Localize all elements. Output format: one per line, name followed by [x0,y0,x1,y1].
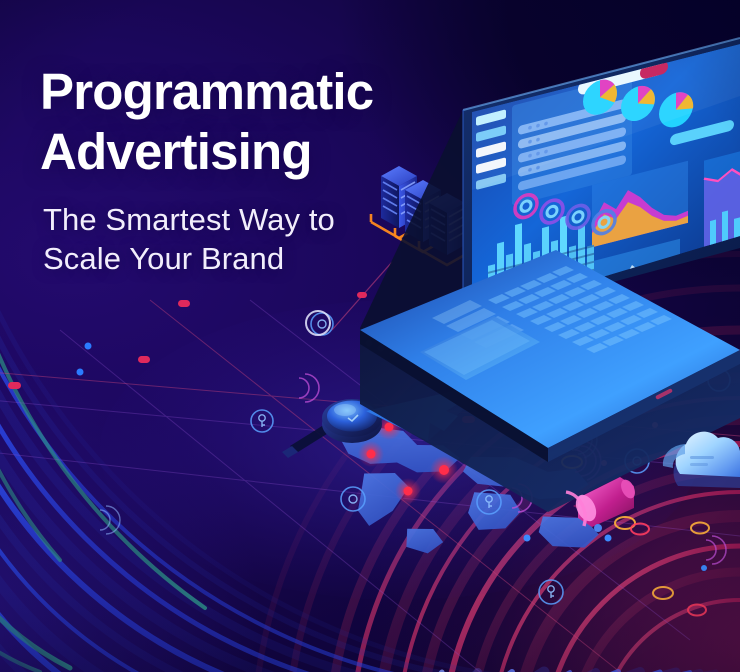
banner-canvas: Programmatic Advertising The Smartest Wa… [0,0,740,672]
headline-block: Programmatic Advertising The Smartest Wa… [40,62,460,278]
page-subtitle: The Smartest Way to Scale Your Brand [43,200,460,278]
page-title: Programmatic Advertising [40,62,460,182]
